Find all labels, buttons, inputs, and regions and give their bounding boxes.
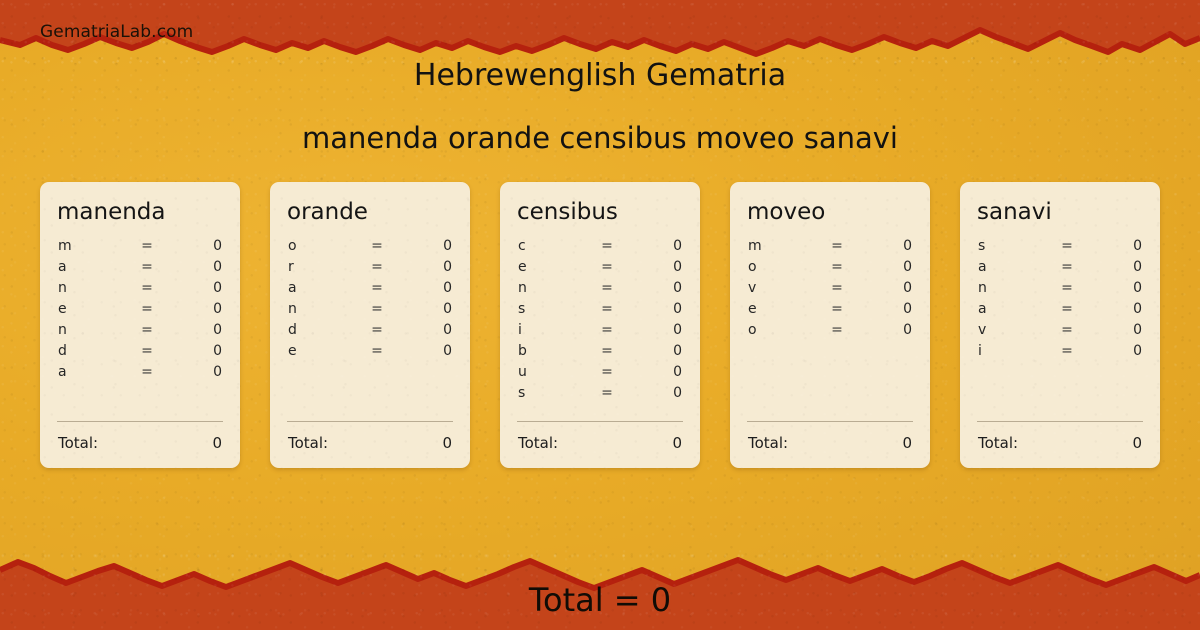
equals-sign: = bbox=[360, 322, 394, 338]
letter: a bbox=[976, 301, 1050, 317]
equals-sign: = bbox=[590, 238, 624, 254]
equals-sign: = bbox=[1050, 343, 1084, 359]
letter: u bbox=[516, 364, 590, 380]
letter: a bbox=[56, 259, 130, 275]
letter-row: u = 0 bbox=[516, 364, 684, 385]
equals-sign: = bbox=[360, 280, 394, 296]
letter: e bbox=[56, 301, 130, 317]
letter: a bbox=[976, 259, 1050, 275]
letter-row: n = 0 bbox=[516, 280, 684, 301]
letter-row: m = 0 bbox=[746, 238, 914, 259]
letter-row: i = 0 bbox=[516, 322, 684, 343]
card-total-label: Total: bbox=[746, 434, 902, 452]
equals-sign: = bbox=[130, 301, 164, 317]
letter-row: c = 0 bbox=[516, 238, 684, 259]
letter-row: a = 0 bbox=[976, 259, 1144, 280]
letter: v bbox=[976, 322, 1050, 338]
letter-value: 0 bbox=[624, 385, 684, 401]
equals-sign: = bbox=[130, 322, 164, 338]
letter-value: 0 bbox=[394, 238, 454, 254]
card-total-label: Total: bbox=[976, 434, 1132, 452]
letter-value: 0 bbox=[164, 343, 224, 359]
letter: d bbox=[56, 343, 130, 359]
letter-row: d = 0 bbox=[56, 343, 224, 364]
equals-sign: = bbox=[1050, 259, 1084, 275]
letter-row: r = 0 bbox=[286, 259, 454, 280]
equals-sign: = bbox=[360, 301, 394, 317]
letter: a bbox=[56, 364, 130, 380]
equals-sign: = bbox=[360, 343, 394, 359]
letter-row: b = 0 bbox=[516, 343, 684, 364]
letter-value: 0 bbox=[854, 259, 914, 275]
card-word-title: sanavi bbox=[977, 200, 1144, 224]
letter-value: 0 bbox=[394, 343, 454, 359]
letter-value: 0 bbox=[854, 322, 914, 338]
letter-row: e = 0 bbox=[516, 259, 684, 280]
letter: b bbox=[516, 343, 590, 359]
letter-value-list: c = 0 e = 0 n = 0 s = 0 i = 0 bbox=[516, 238, 684, 421]
word-card: orande o = 0 r = 0 a = 0 n = 0 bbox=[270, 182, 470, 468]
letter-row: o = 0 bbox=[746, 259, 914, 280]
card-total-value: 0 bbox=[902, 434, 914, 452]
letter: a bbox=[286, 280, 360, 296]
letter-row: m = 0 bbox=[56, 238, 224, 259]
card-divider bbox=[287, 421, 453, 422]
equals-sign: = bbox=[130, 364, 164, 380]
letter-row: e = 0 bbox=[56, 301, 224, 322]
letter-row: a = 0 bbox=[56, 259, 224, 280]
letter: n bbox=[976, 280, 1050, 296]
equals-sign: = bbox=[360, 259, 394, 275]
site-logo[interactable]: GematriaLab.com bbox=[40, 22, 193, 42]
letter-value: 0 bbox=[394, 322, 454, 338]
letter-row: n = 0 bbox=[286, 301, 454, 322]
equals-sign: = bbox=[130, 343, 164, 359]
page-title: Hebrewenglish Gematria bbox=[0, 58, 1200, 93]
equals-sign: = bbox=[130, 238, 164, 254]
card-total-value: 0 bbox=[442, 434, 454, 452]
card-total-row: Total: 0 bbox=[286, 434, 454, 454]
equals-sign: = bbox=[590, 259, 624, 275]
letter: o bbox=[746, 322, 820, 338]
letter-value: 0 bbox=[624, 322, 684, 338]
letter: e bbox=[746, 301, 820, 317]
letter-value: 0 bbox=[624, 301, 684, 317]
card-divider bbox=[57, 421, 223, 422]
letter-value: 0 bbox=[1084, 301, 1144, 317]
letter-row: a = 0 bbox=[286, 280, 454, 301]
letter-row: a = 0 bbox=[976, 301, 1144, 322]
card-total-row: Total: 0 bbox=[56, 434, 224, 454]
equals-sign: = bbox=[1050, 322, 1084, 338]
equals-sign: = bbox=[590, 280, 624, 296]
letter-row: s = 0 bbox=[516, 301, 684, 322]
letter-value-list: m = 0 o = 0 v = 0 e = 0 o = 0 bbox=[746, 238, 914, 421]
letter-value: 0 bbox=[164, 322, 224, 338]
letter-value: 0 bbox=[164, 238, 224, 254]
letter: o bbox=[746, 259, 820, 275]
card-word-title: moveo bbox=[747, 200, 914, 224]
footer-grand-total: Total = 0 bbox=[0, 581, 1200, 619]
card-total-value: 0 bbox=[1132, 434, 1144, 452]
card-total-row: Total: 0 bbox=[746, 434, 914, 454]
letter-value-list: m = 0 a = 0 n = 0 e = 0 n = 0 bbox=[56, 238, 224, 421]
equals-sign: = bbox=[590, 322, 624, 338]
equals-sign: = bbox=[130, 259, 164, 275]
letter-value: 0 bbox=[854, 280, 914, 296]
equals-sign: = bbox=[360, 238, 394, 254]
letter-row: s = 0 bbox=[516, 385, 684, 406]
letter-value: 0 bbox=[1084, 343, 1144, 359]
letter-row: n = 0 bbox=[976, 280, 1144, 301]
equals-sign: = bbox=[820, 238, 854, 254]
letter-value: 0 bbox=[394, 301, 454, 317]
equals-sign: = bbox=[590, 385, 624, 401]
card-divider bbox=[977, 421, 1143, 422]
letter: e bbox=[516, 259, 590, 275]
equals-sign: = bbox=[820, 280, 854, 296]
letter-value: 0 bbox=[164, 364, 224, 380]
letter-row: o = 0 bbox=[286, 238, 454, 259]
letter: m bbox=[56, 238, 130, 254]
card-word-title: censibus bbox=[517, 200, 684, 224]
equals-sign: = bbox=[590, 301, 624, 317]
letter: s bbox=[976, 238, 1050, 254]
letter: s bbox=[516, 385, 590, 401]
letter: n bbox=[286, 301, 360, 317]
letter: s bbox=[516, 301, 590, 317]
card-total-label: Total: bbox=[286, 434, 442, 452]
letter-value: 0 bbox=[164, 280, 224, 296]
letter-value: 0 bbox=[164, 301, 224, 317]
letter-row: n = 0 bbox=[56, 322, 224, 343]
letter-value: 0 bbox=[624, 259, 684, 275]
letter-row: o = 0 bbox=[746, 322, 914, 343]
letter: i bbox=[516, 322, 590, 338]
letter-value: 0 bbox=[1084, 280, 1144, 296]
letter: e bbox=[286, 343, 360, 359]
equals-sign: = bbox=[130, 280, 164, 296]
letter-value: 0 bbox=[1084, 238, 1144, 254]
letter-value-list: s = 0 a = 0 n = 0 a = 0 v = 0 bbox=[976, 238, 1144, 421]
letter-row: a = 0 bbox=[56, 364, 224, 385]
letter: o bbox=[286, 238, 360, 254]
word-card: moveo m = 0 o = 0 v = 0 e = 0 bbox=[730, 182, 930, 468]
letter-value: 0 bbox=[854, 238, 914, 254]
equals-sign: = bbox=[820, 322, 854, 338]
letter-row: s = 0 bbox=[976, 238, 1144, 259]
phrase-heading: manenda orande censibus moveo sanavi bbox=[0, 121, 1200, 155]
letter-row: e = 0 bbox=[746, 301, 914, 322]
word-card: sanavi s = 0 a = 0 n = 0 a = 0 bbox=[960, 182, 1160, 468]
letter-value: 0 bbox=[164, 259, 224, 275]
card-divider bbox=[517, 421, 683, 422]
word-card: censibus c = 0 e = 0 n = 0 s = 0 bbox=[500, 182, 700, 468]
letter-value: 0 bbox=[624, 343, 684, 359]
letter-row: v = 0 bbox=[746, 280, 914, 301]
letter-row: e = 0 bbox=[286, 343, 454, 364]
equals-sign: = bbox=[590, 343, 624, 359]
letter: r bbox=[286, 259, 360, 275]
card-word-title: manenda bbox=[57, 200, 224, 224]
letter-row: n = 0 bbox=[56, 280, 224, 301]
letter: m bbox=[746, 238, 820, 254]
letter: v bbox=[746, 280, 820, 296]
equals-sign: = bbox=[1050, 238, 1084, 254]
card-word-title: orande bbox=[287, 200, 454, 224]
letter: i bbox=[976, 343, 1050, 359]
card-total-label: Total: bbox=[516, 434, 672, 452]
card-total-value: 0 bbox=[212, 434, 224, 452]
letter: d bbox=[286, 322, 360, 338]
card-divider bbox=[747, 421, 913, 422]
word-cards-container: manenda m = 0 a = 0 n = 0 e = 0 bbox=[40, 182, 1160, 468]
letter-value: 0 bbox=[624, 280, 684, 296]
letter-value: 0 bbox=[394, 259, 454, 275]
letter-value: 0 bbox=[1084, 322, 1144, 338]
equals-sign: = bbox=[820, 259, 854, 275]
letter: n bbox=[516, 280, 590, 296]
letter: n bbox=[56, 280, 130, 296]
letter-value: 0 bbox=[1084, 259, 1144, 275]
equals-sign: = bbox=[1050, 301, 1084, 317]
letter-row: i = 0 bbox=[976, 343, 1144, 364]
letter: c bbox=[516, 238, 590, 254]
letter-value: 0 bbox=[624, 364, 684, 380]
letter-row: v = 0 bbox=[976, 322, 1144, 343]
letter-value: 0 bbox=[624, 238, 684, 254]
letter-value: 0 bbox=[854, 301, 914, 317]
letter-value-list: o = 0 r = 0 a = 0 n = 0 d = 0 bbox=[286, 238, 454, 421]
word-card: manenda m = 0 a = 0 n = 0 e = 0 bbox=[40, 182, 240, 468]
equals-sign: = bbox=[1050, 280, 1084, 296]
equals-sign: = bbox=[590, 364, 624, 380]
equals-sign: = bbox=[820, 301, 854, 317]
card-total-value: 0 bbox=[672, 434, 684, 452]
card-total-row: Total: 0 bbox=[976, 434, 1144, 454]
card-total-row: Total: 0 bbox=[516, 434, 684, 454]
letter-row: d = 0 bbox=[286, 322, 454, 343]
letter: n bbox=[56, 322, 130, 338]
letter-value: 0 bbox=[394, 280, 454, 296]
card-total-label: Total: bbox=[56, 434, 212, 452]
